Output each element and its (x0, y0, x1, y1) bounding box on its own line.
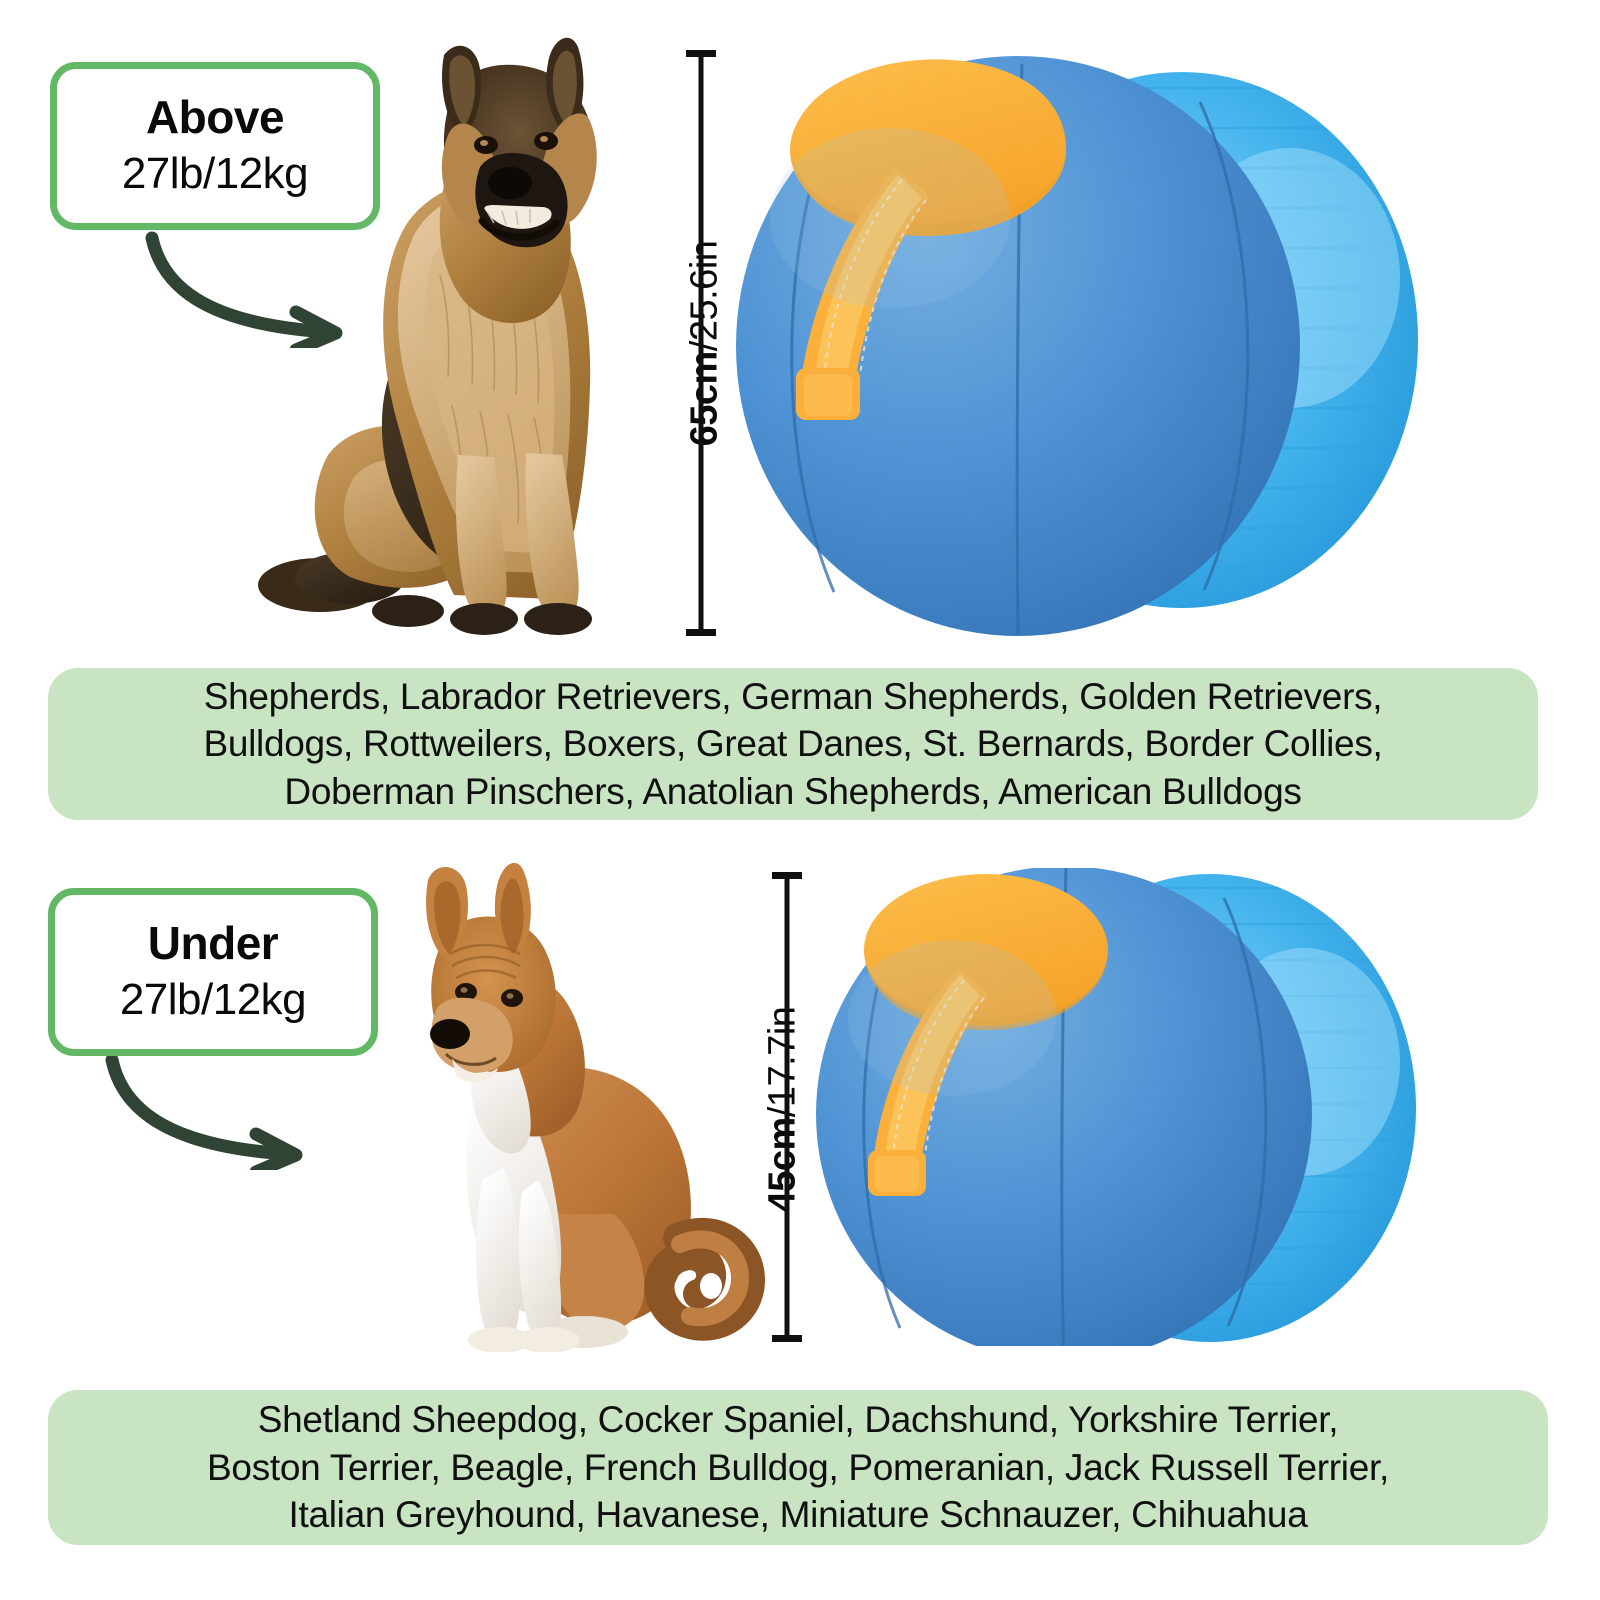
ruler-cap-bottom (686, 629, 716, 636)
breeds-line: Shetland Sheepdog, Cocker Spaniel, Dachs… (258, 1396, 1339, 1443)
breeds-line: Bulldogs, Rottweilers, Boxers, Great Dan… (203, 720, 1382, 767)
breeds-line: Boston Terrier, Beagle, French Bulldog, … (207, 1444, 1389, 1491)
callout-under-subtitle: 27lb/12kg (120, 975, 306, 1026)
ruler-line (785, 872, 790, 1342)
breeds-banner-above: Shepherds, Labrador Retrievers, German S… (48, 668, 1538, 820)
callout-under: Under 27lb/12kg (48, 888, 378, 1056)
breeds-line: Italian Greyhound, Havanese, Miniature S… (289, 1491, 1308, 1538)
ruler-45cm (772, 872, 802, 1342)
arrow-above (140, 228, 370, 348)
arrow-under (100, 1050, 330, 1170)
callout-above-title: Above (146, 93, 284, 141)
blue-exercise-ball-65 (730, 28, 1430, 648)
blue-exercise-ball-45 (812, 868, 1432, 1346)
callout-above: Above 27lb/12kg (50, 62, 380, 230)
ruler-line (699, 50, 704, 636)
ruler-cap-bottom (772, 1335, 802, 1342)
callout-under-title: Under (148, 919, 278, 967)
ruler-cap-top (686, 50, 716, 57)
breeds-line: Doberman Pinschers, Anatolian Shepherds,… (284, 768, 1301, 815)
ruler-65cm (686, 50, 716, 636)
size-comparison-infographic: Above 27lb/12kg 65cm/25.6in (0, 0, 1600, 1600)
breeds-banner-under: Shetland Sheepdog, Cocker Spaniel, Dachs… (48, 1390, 1548, 1545)
breeds-line: Shepherds, Labrador Retrievers, German S… (204, 673, 1383, 720)
ruler-cap-top (772, 872, 802, 879)
callout-above-subtitle: 27lb/12kg (122, 149, 308, 200)
basenji-photo (378, 862, 768, 1352)
